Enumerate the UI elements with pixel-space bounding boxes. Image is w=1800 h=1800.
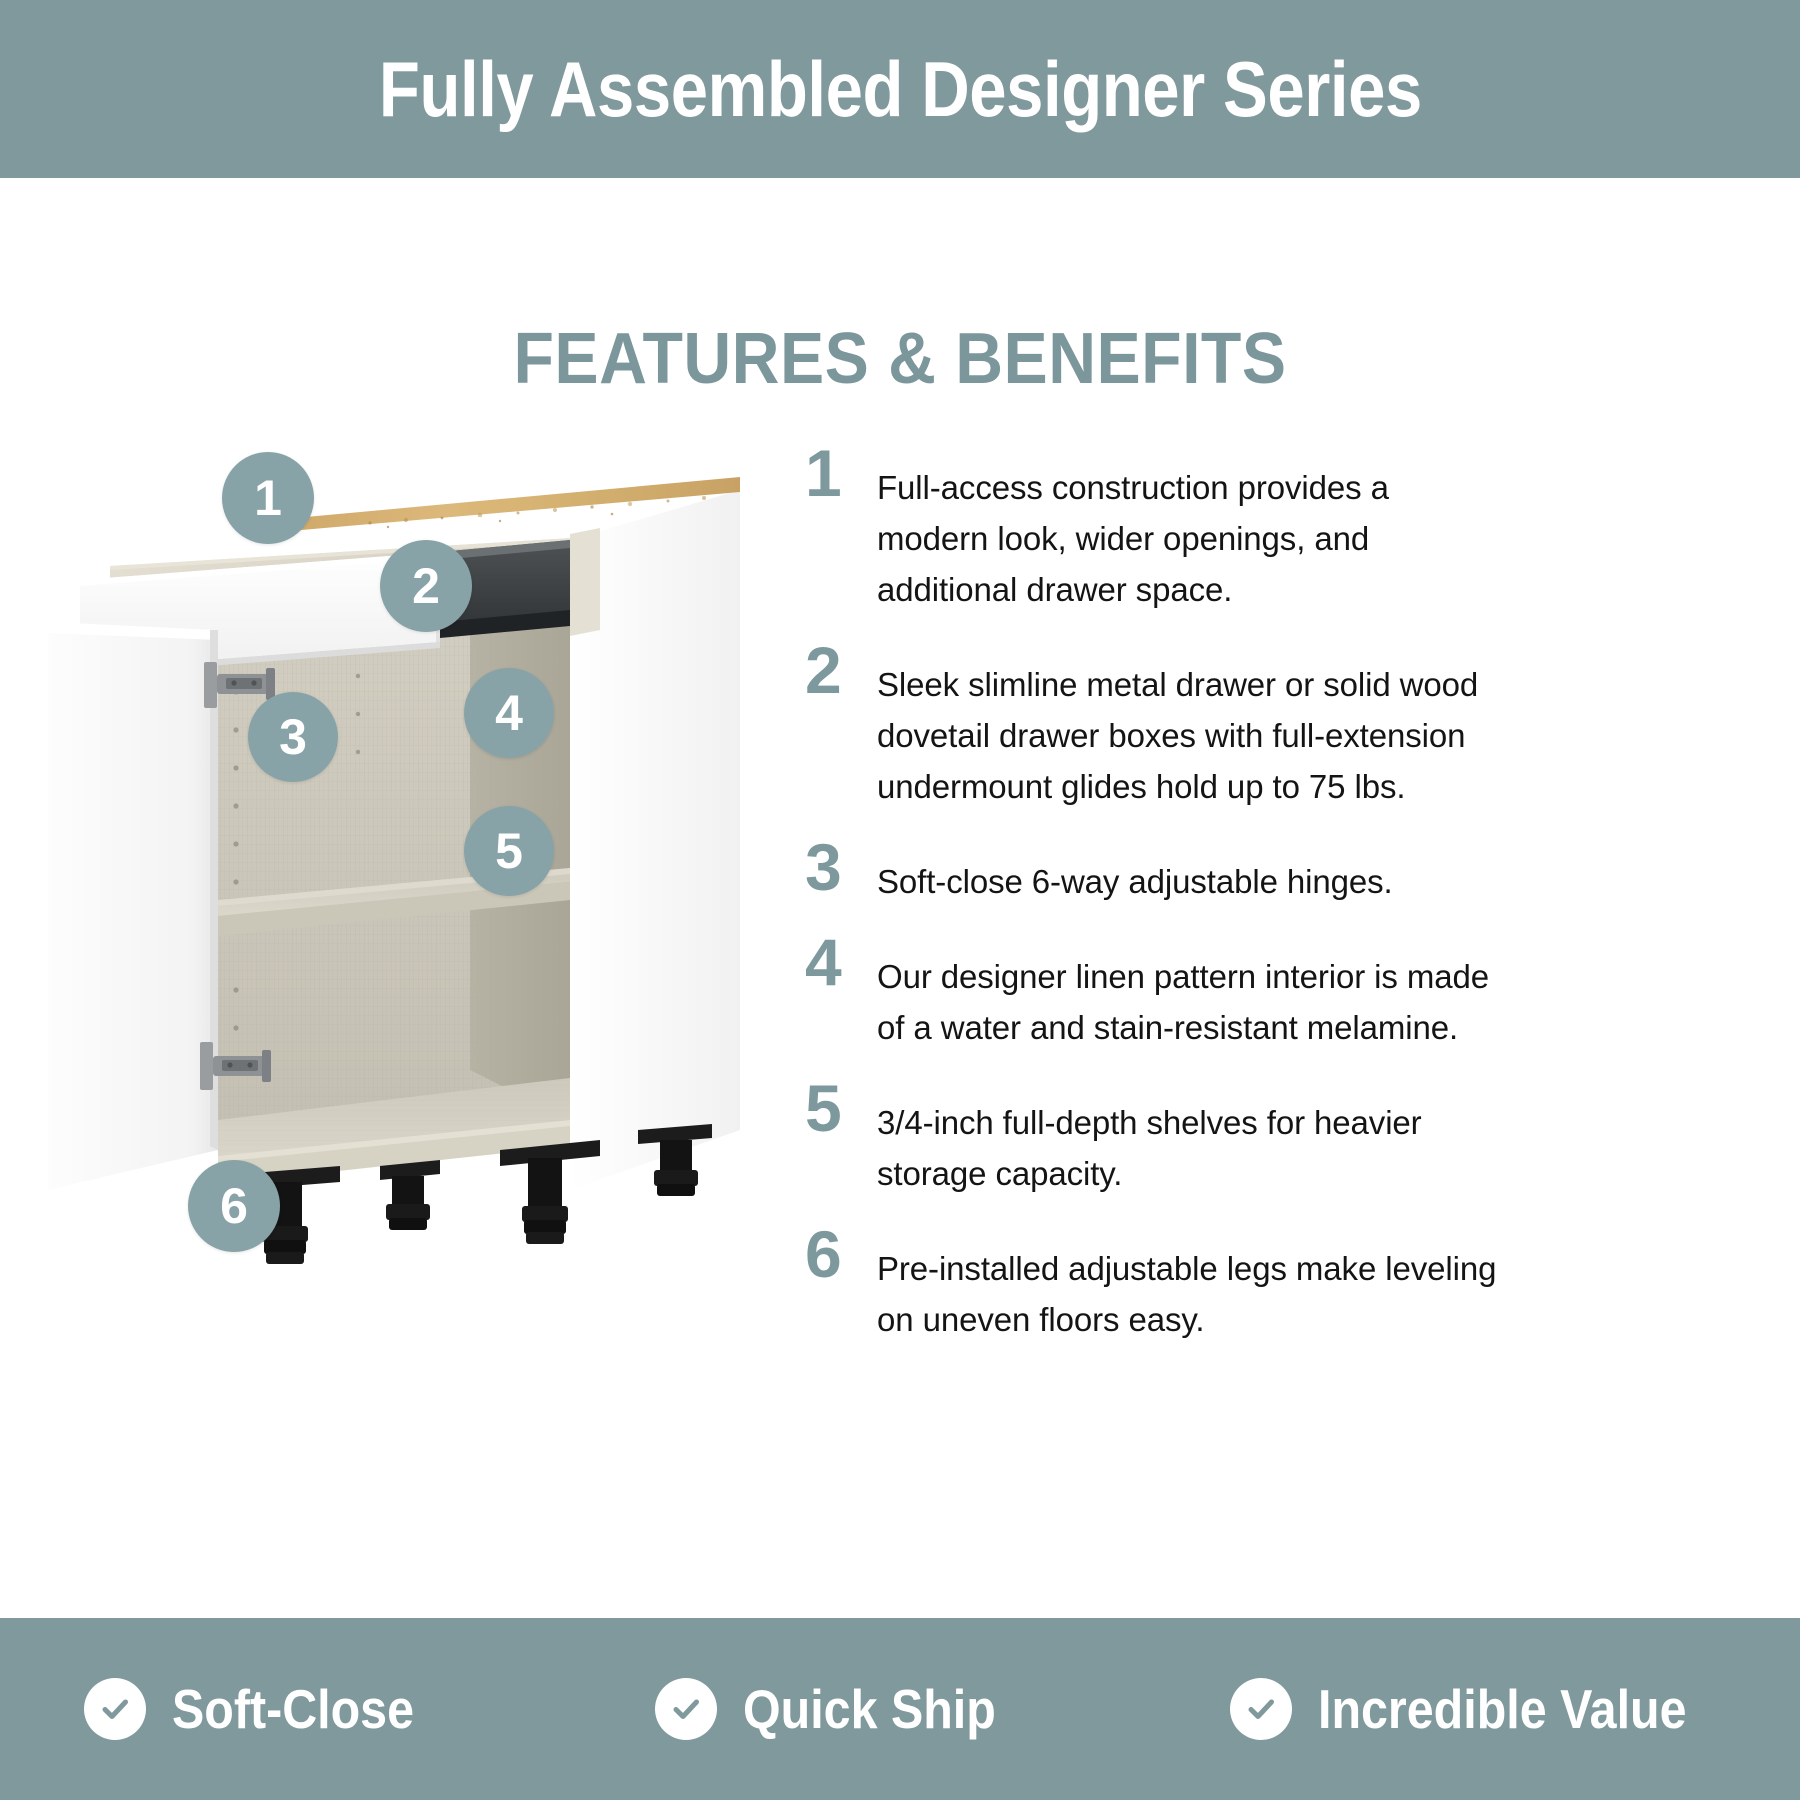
section-heading: FEATURES & BENEFITS: [72, 318, 1728, 400]
feature-item: 6 Pre-installed adjustable legs make lev…: [805, 1221, 1505, 1345]
callout-number: 6: [220, 1177, 248, 1235]
feature-number: 4: [805, 929, 877, 993]
footer-badge-quick-ship: Quick Ship: [655, 1677, 1030, 1741]
cabinet-door-panel: [48, 622, 218, 1190]
check-circle-icon: [1230, 1678, 1292, 1740]
feature-number: 1: [805, 440, 877, 504]
feature-description: Pre-installed adjustable legs make level…: [877, 1221, 1505, 1345]
adjustable-leg-front-right: [500, 1140, 600, 1244]
callout-badge-3: 3: [248, 692, 338, 782]
feature-number: 2: [805, 637, 877, 701]
check-circle-icon: [655, 1678, 717, 1740]
callout-badge-2: 2: [380, 540, 472, 632]
footer-label: Soft-Close: [172, 1677, 414, 1741]
footer-label: Quick Ship: [743, 1677, 996, 1741]
drawer-cavity-right-edge: [570, 528, 600, 636]
callout-number: 3: [279, 708, 307, 766]
feature-description: Soft-close 6-way adjustable hinges.: [877, 834, 1505, 907]
feature-item: 4 Our designer linen pattern interior is…: [805, 929, 1505, 1053]
footer-badge-incredible-value: Incredible Value: [1230, 1677, 1737, 1741]
feature-description: Our designer linen pattern interior is m…: [877, 929, 1505, 1053]
feature-item: 2 Sleek slimline metal drawer or solid w…: [805, 637, 1505, 812]
header-bar: Fully Assembled Designer Series: [0, 0, 1800, 178]
cabinet-illustration: 1 2 3 4 5 6: [40, 430, 820, 1330]
feature-number: 6: [805, 1221, 877, 1285]
callout-badge-6: 6: [188, 1160, 280, 1252]
feature-number: 5: [805, 1075, 877, 1139]
feature-item: 3 Soft-close 6-way adjustable hinges.: [805, 834, 1505, 907]
callout-number: 5: [495, 822, 523, 880]
page-title: Fully Assembled Designer Series: [379, 44, 1422, 135]
feature-item: 5 3/4-inch full-depth shelves for heavie…: [805, 1075, 1505, 1199]
main-content: 1 2 3 4 5 6 1 Full-access construction p…: [0, 430, 1800, 1430]
callout-number: 1: [254, 469, 282, 527]
callout-number: 4: [495, 684, 523, 742]
adjustable-leg-center: [380, 1160, 440, 1230]
feature-item: 1 Full-access construction provides a mo…: [805, 440, 1505, 615]
feature-description: Sleek slimline metal drawer or solid woo…: [877, 637, 1505, 812]
feature-list: 1 Full-access construction provides a mo…: [805, 440, 1505, 1367]
footer-badge-soft-close: Soft-Close: [84, 1677, 447, 1741]
footer-bar: Soft-Close Quick Ship Incredible Value: [0, 1618, 1800, 1800]
footer-label: Incredible Value: [1318, 1677, 1687, 1741]
callout-number: 2: [412, 557, 440, 615]
feature-number: 3: [805, 834, 877, 898]
callout-badge-1: 1: [222, 452, 314, 544]
check-circle-icon: [84, 1678, 146, 1740]
callout-badge-5: 5: [464, 806, 554, 896]
feature-description: 3/4-inch full-depth shelves for heavier …: [877, 1075, 1505, 1199]
callout-badge-4: 4: [464, 668, 554, 758]
feature-description: Full-access construction provides a mode…: [877, 440, 1505, 615]
